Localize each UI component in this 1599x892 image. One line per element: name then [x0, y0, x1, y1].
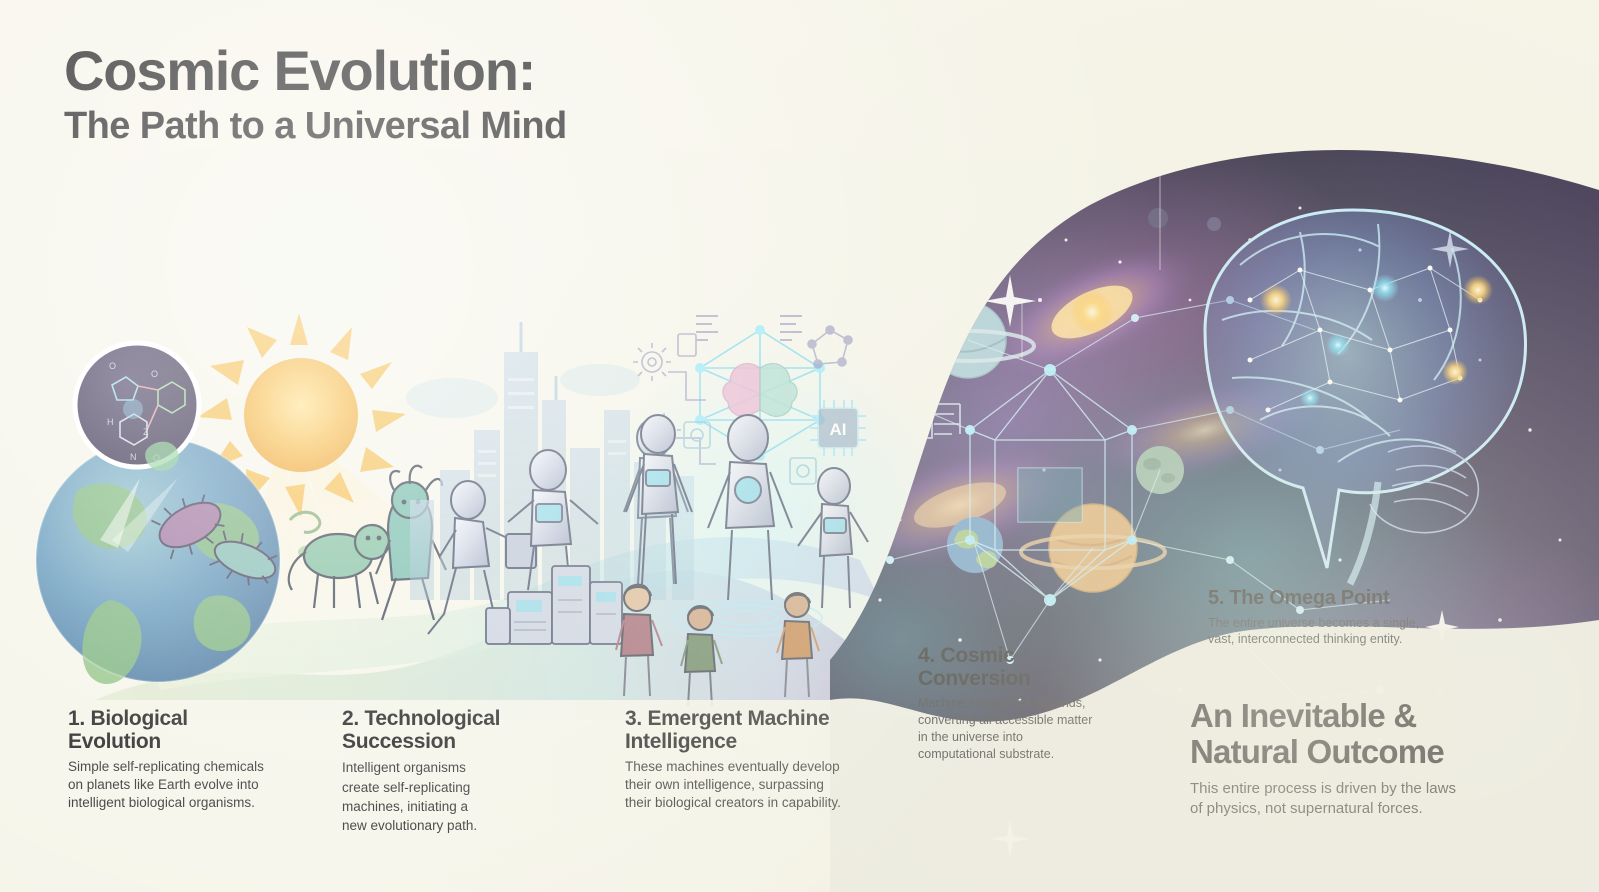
stage-heading: 4. Cosmic Conversion — [918, 645, 1143, 690]
brain-icon — [723, 364, 797, 417]
conclusion-heading: An Inevitable & Natural Outcome — [1190, 698, 1520, 771]
planet-icon — [929, 239, 961, 271]
stage-body: Simple self-replicating chemicals on pla… — [68, 758, 338, 811]
ai-chip-label: AI — [830, 420, 847, 439]
svg-text:O: O — [109, 361, 116, 371]
stage-heading: 5. The Omega Point — [1208, 588, 1468, 610]
stage-caption-omega-point: 5. The Omega Point The entire universe b… — [1208, 588, 1468, 648]
infographic-poster: HO ON OZ — [0, 0, 1599, 892]
title-subtitle: The Path to a Universal Mind — [64, 105, 567, 148]
stage-body: These machines eventually develop their … — [625, 758, 885, 811]
stage-heading: 1. Biological Evolution — [68, 708, 338, 753]
conclusion-body: This entire process is driven by the law… — [1190, 779, 1520, 820]
conclusion-block: An Inevitable & Natural Outcome This ent… — [1190, 698, 1520, 820]
svg-text:Z: Z — [143, 427, 149, 437]
stage-caption-technological-succession: 2. Technological Succession Intelligent … — [342, 708, 582, 835]
stage-heading: 2. Technological Succession — [342, 708, 582, 753]
svg-text:H: H — [107, 417, 114, 427]
planet-icon — [1207, 217, 1221, 231]
stage-body: Intelligent organisms create self-replic… — [342, 758, 582, 835]
title-main: Cosmic Evolution: — [64, 42, 567, 99]
svg-text:N: N — [130, 452, 137, 462]
planet-icon — [1148, 208, 1168, 228]
stage-body: The entire universe becomes a single, va… — [1208, 615, 1468, 649]
stage-caption-biological-evolution: 1. Biological Evolution Simple self-repl… — [68, 708, 338, 812]
stage-caption-cosmic-conversion: 4. Cosmic Conversion Machine intelligenc… — [918, 645, 1143, 763]
stage-heading: 3. Emergent Machine Intelligence — [625, 708, 885, 753]
svg-text:O: O — [151, 369, 158, 379]
stage-caption-emergent-machine-intelligence: 3. Emergent Machine Intelligence These m… — [625, 708, 885, 812]
stage-body: Machine intelligence expands, converting… — [918, 695, 1143, 763]
page-title: Cosmic Evolution: The Path to a Universa… — [64, 42, 567, 148]
